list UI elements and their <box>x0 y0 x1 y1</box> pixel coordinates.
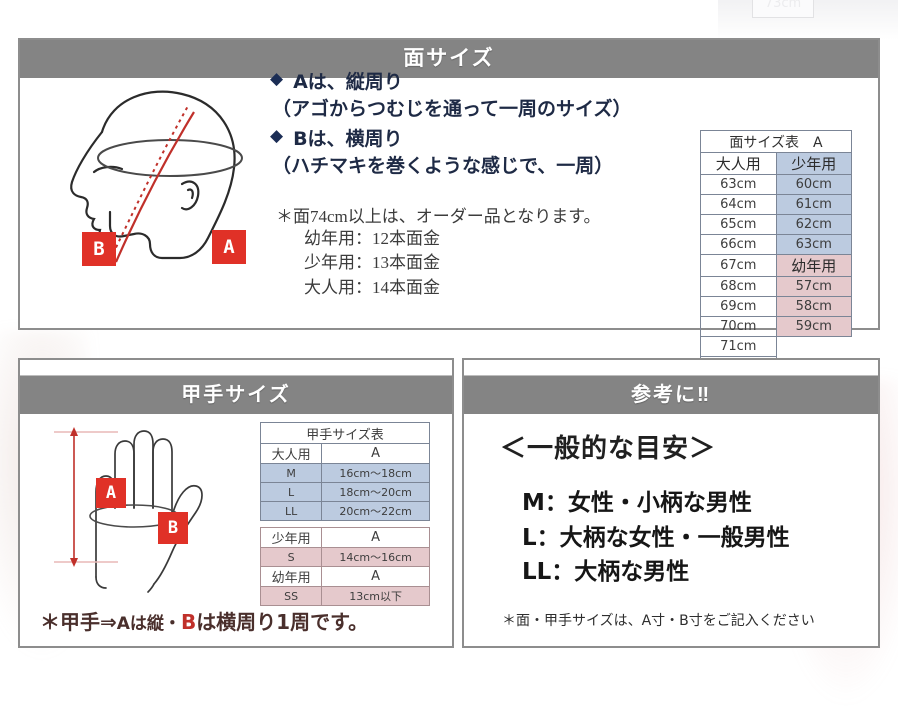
kote-col-a: A <box>322 567 430 587</box>
reference-panel-top-strip <box>464 360 878 376</box>
hand-label-b: B <box>158 512 188 544</box>
men-col-adult: 大人用 <box>701 153 777 175</box>
kote-panel-body: A B 甲手サイズ表 大人用 A M16cm〜18cm L18cm〜20cm L… <box>20 414 452 648</box>
table-row: 69cm58cm <box>701 297 852 317</box>
cell-right: 59cm <box>776 317 852 337</box>
cell-adult: 66cm <box>701 235 777 255</box>
men-panel-body: B A ◆ Aは、縦周り （アゴからつむじを通って一周のサイズ） ◆ Bは、横周… <box>20 78 878 328</box>
men-bullet-b: ◆ Bは、横周り <box>270 127 700 153</box>
cell-adult: 69cm <box>701 297 777 317</box>
cell-adult: 63cm <box>701 175 777 195</box>
cell-right: 57cm <box>776 277 852 297</box>
kote-youth-size-table: 少年用 A S14cm〜16cm 幼年用 A SS13cm以下 <box>260 527 430 606</box>
head-label-a: A <box>212 230 246 264</box>
reference-panel: 参考に‼ ＜一般的な目安＞ M：女性・小柄な男性 L：大柄な女性・一般男性 LL… <box>462 358 880 648</box>
table-row: S14cm〜16cm <box>261 548 430 567</box>
cell-right: 58cm <box>776 297 852 317</box>
table-row: 67cm幼年用 <box>701 255 852 277</box>
men-notes: ＊面74cm以上は、オーダー品となります。 幼年用：12本面金 少年用：13本面… <box>270 202 700 301</box>
table-row: 68cm57cm <box>701 277 852 297</box>
table-row-title: 面サイズ表 A <box>701 131 852 153</box>
table-row: L18cm〜20cm <box>261 483 430 502</box>
table-row: 71cm <box>701 337 852 357</box>
men-note-adult: 大人用：14本面金 <box>304 276 700 301</box>
cell-size: S <box>261 548 322 567</box>
reference-size-guide-list: M：女性・小柄な男性 L：大柄な女性・一般男性 LL：大柄な男性 <box>522 486 790 590</box>
cell-range: 14cm〜16cm <box>322 548 430 567</box>
table-row: 70cm59cm <box>701 317 852 337</box>
diamond-icon: ◆ <box>270 127 283 146</box>
cell-adult: 71cm <box>701 337 777 357</box>
men-table-title: 面サイズ表 A <box>701 131 852 153</box>
cell-adult: 64cm <box>701 195 777 215</box>
men-bullet-b-line1: Bは、横周り <box>293 127 402 153</box>
men-bullet-a: ◆ Aは、縦周り <box>270 70 700 96</box>
kote-col-child: 幼年用 <box>261 567 322 587</box>
cell-right: 60cm <box>776 175 852 195</box>
men-note-child: 幼年用：12本面金 <box>304 227 700 252</box>
reference-panel-title: 参考に‼ <box>464 376 878 414</box>
kote-footnote-prefix: ＊甲手⇒ <box>40 610 117 634</box>
men-bullet-a-line2: （アゴからつむじを通って一周のサイズ） <box>272 97 700 123</box>
kote-footnote-suffix: は横周り1周です。 <box>196 610 368 634</box>
head-label-b: B <box>82 232 116 266</box>
reference-panel-body: ＜一般的な目安＞ M：女性・小柄な男性 L：大柄な女性・一般男性 LL：大柄な男… <box>464 414 878 648</box>
cell-right: 62cm <box>776 215 852 235</box>
kote-footnote-b-letter: B <box>181 610 196 634</box>
men-col-youth: 少年用 <box>776 153 852 175</box>
hand-measurement-diagram: A B <box>38 412 253 597</box>
kote-footnote: ＊甲手⇒Aは縦・Bは横周り1周です。 <box>40 606 440 635</box>
kote-col-adult: 大人用 <box>261 444 322 464</box>
cell-size: SS <box>261 587 322 606</box>
head-measurement-diagram: B A <box>42 72 282 272</box>
cell-range: 16cm〜18cm <box>322 464 430 483</box>
men-size-table: 面サイズ表 A 大人用 少年用 63cm60cm 64cm61cm 65cm62… <box>700 130 852 397</box>
kote-table-title: 甲手サイズ表 <box>261 423 430 444</box>
reference-heading: ＜一般的な目安＞ <box>500 428 716 465</box>
kote-col-a: A <box>322 444 430 464</box>
kote-size-panel: 甲手サイズ <box>18 358 454 648</box>
cell-adult: 68cm <box>701 277 777 297</box>
list-item: M：女性・小柄な男性 <box>522 486 790 521</box>
cut-off-size-cell: 73cm <box>752 0 814 18</box>
cell-right: 63cm <box>776 235 852 255</box>
cell-size: LL <box>261 502 322 521</box>
table-row-title: 甲手サイズ表 <box>261 423 430 444</box>
men-bullet-a-line1: Aは、縦周り <box>293 70 403 96</box>
cell-adult: 65cm <box>701 215 777 235</box>
cell-adult: 70cm <box>701 317 777 337</box>
cell-right: 61cm <box>776 195 852 215</box>
table-row: 65cm62cm <box>701 215 852 235</box>
table-row: LL20cm〜22cm <box>261 502 430 521</box>
head-outline-svg <box>42 72 282 272</box>
cell-size: L <box>261 483 322 502</box>
kote-col-a: A <box>322 528 430 548</box>
cell-adult: 67cm <box>701 255 777 277</box>
kote-footnote-a: Aは縦・ <box>117 614 181 634</box>
diamond-icon: ◆ <box>270 70 283 89</box>
cell-range: 20cm〜22cm <box>322 502 430 521</box>
men-note-main: ＊面74cm以上は、オーダー品となります。 <box>276 202 700 227</box>
table-row-header: 大人用 A <box>261 444 430 464</box>
table-row: 63cm60cm <box>701 175 852 195</box>
table-row-header: 大人用 少年用 <box>701 153 852 175</box>
men-description-text: ◆ Aは、縦周り （アゴからつむじを通って一周のサイズ） ◆ Bは、横周り （ハ… <box>270 70 700 300</box>
hand-label-a: A <box>96 478 126 508</box>
table-row: 66cm63cm <box>701 235 852 255</box>
cell-range: 18cm〜20cm <box>322 483 430 502</box>
kote-panel-top-strip <box>20 360 452 376</box>
men-size-table-body: 面サイズ表 A 大人用 少年用 63cm60cm 64cm61cm 65cm62… <box>701 131 852 397</box>
kote-adult-table-body: 甲手サイズ表 大人用 A M16cm〜18cm L18cm〜20cm LL20c… <box>261 423 430 521</box>
cell-size: M <box>261 464 322 483</box>
list-item: LL：大柄な男性 <box>522 555 790 590</box>
hand-outline-svg <box>38 412 253 597</box>
table-row-header: 少年用 A <box>261 528 430 548</box>
table-row: 64cm61cm <box>701 195 852 215</box>
cell-right: 幼年用 <box>776 255 852 277</box>
table-row: SS13cm以下 <box>261 587 430 606</box>
men-size-panel: 面サイズ B A ◆ Aは、縦周り <box>18 38 880 330</box>
reference-footnote: ＊面・甲手サイズは、A寸・B寸をご記入ください <box>502 610 815 630</box>
kote-adult-size-table: 甲手サイズ表 大人用 A M16cm〜18cm L18cm〜20cm LL20c… <box>260 422 430 521</box>
kote-youth-table-body: 少年用 A S14cm〜16cm 幼年用 A SS13cm以下 <box>261 528 430 606</box>
cell-range: 13cm以下 <box>322 587 430 606</box>
list-item: L：大柄な女性・一般男性 <box>522 521 790 556</box>
table-row-header: 幼年用 A <box>261 567 430 587</box>
kote-panel-title: 甲手サイズ <box>20 376 452 414</box>
kote-col-youth: 少年用 <box>261 528 322 548</box>
men-note-youth: 少年用：13本面金 <box>304 251 700 276</box>
table-row: M16cm〜18cm <box>261 464 430 483</box>
men-bullet-b-line2: （ハチマキを巻くような感じで、一周） <box>272 154 700 180</box>
cell-empty <box>776 337 852 357</box>
